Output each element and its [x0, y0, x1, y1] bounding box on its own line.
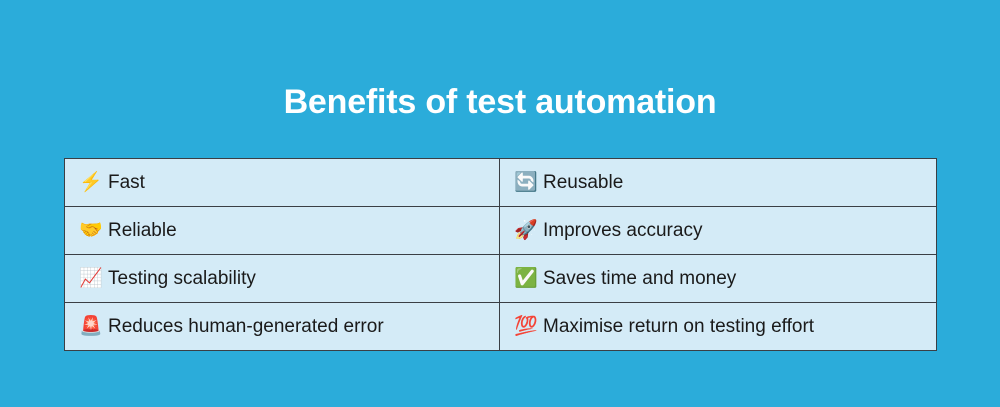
table-row: ⚡ Fast 🔄 Reusable [65, 159, 937, 207]
benefit-cell-left: 📈 Testing scalability [65, 255, 500, 303]
benefit-cell-right: 🔄 Reusable [500, 159, 937, 207]
benefit-cell-right: 🚀 Improves accuracy [500, 207, 937, 255]
infographic-canvas: Benefits of test automation ⚡ Fast 🔄 Reu… [0, 0, 1000, 407]
benefit-label: Reliable [108, 219, 177, 243]
handshake-icon: 🤝 [79, 221, 101, 240]
page-title: Benefits of test automation [0, 80, 1000, 124]
benefit-cell-left: 🤝 Reliable [65, 207, 500, 255]
benefit-label: Improves accuracy [543, 219, 702, 243]
benefit-label: Reusable [543, 171, 623, 195]
table-row: 📈 Testing scalability ✅ Saves time and m… [65, 255, 937, 303]
benefit-cell-right: 💯 Maximise return on testing effort [500, 303, 937, 351]
benefit-label: Saves time and money [543, 267, 736, 291]
benefit-cell-left: ⚡ Fast [65, 159, 500, 207]
police-car-light-icon: 🚨 [79, 317, 101, 336]
benefit-cell-left: 🚨 Reduces human-generated error [65, 303, 500, 351]
counterclockwise-arrows-icon: 🔄 [514, 173, 536, 192]
hundred-points-icon: 💯 [514, 317, 536, 336]
benefit-label: Testing scalability [108, 267, 256, 291]
high-voltage-icon: ⚡ [79, 173, 101, 192]
benefit-label: Fast [108, 171, 145, 195]
table-row: 🚨 Reduces human-generated error 💯 Maximi… [65, 303, 937, 351]
benefit-label: Reduces human-generated error [108, 315, 384, 339]
benefit-label: Maximise return on testing effort [543, 315, 814, 339]
chart-increasing-icon: 📈 [79, 269, 101, 288]
benefits-table-body: ⚡ Fast 🔄 Reusable 🤝 Reliable [65, 159, 937, 351]
rocket-icon: 🚀 [514, 221, 536, 240]
benefits-table: ⚡ Fast 🔄 Reusable 🤝 Reliable [64, 158, 937, 351]
table-row: 🤝 Reliable 🚀 Improves accuracy [65, 207, 937, 255]
check-mark-button-icon: ✅ [514, 269, 536, 288]
benefit-cell-right: ✅ Saves time and money [500, 255, 937, 303]
